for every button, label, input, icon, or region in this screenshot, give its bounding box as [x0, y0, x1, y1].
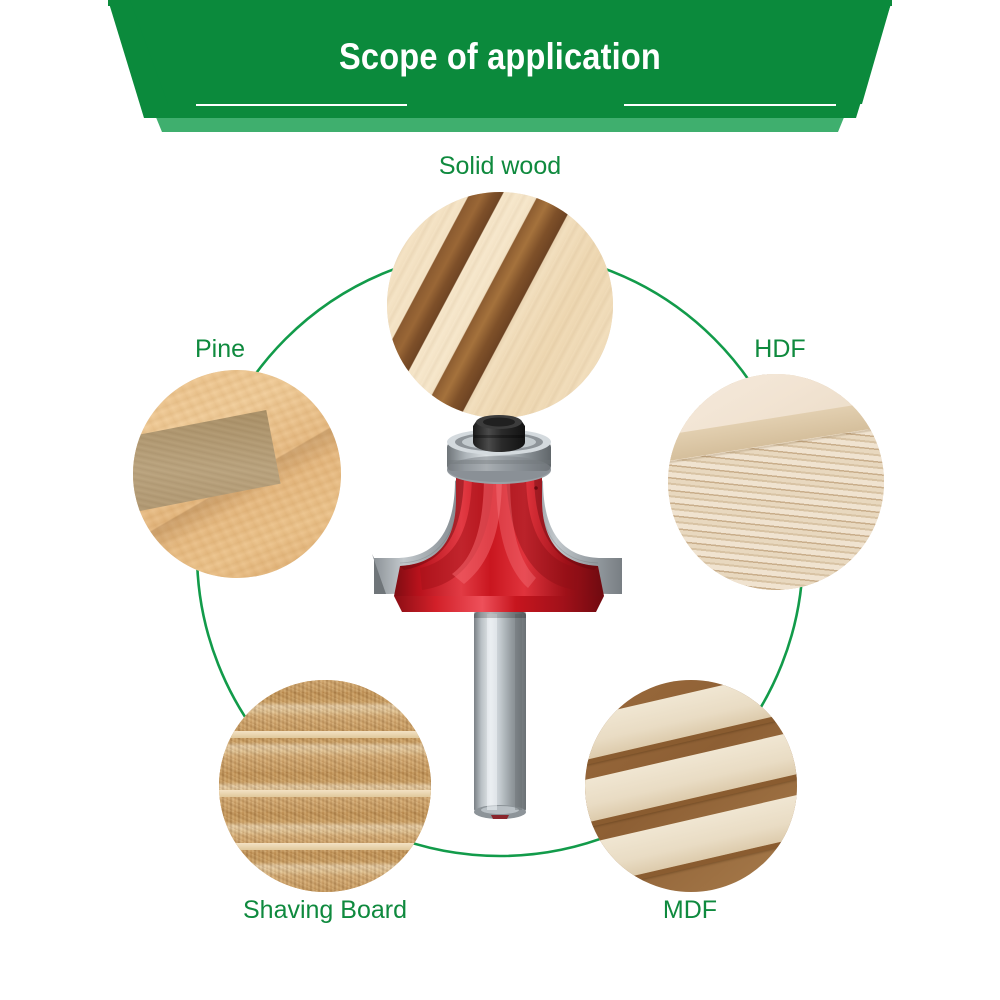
label-pine: Pine [140, 335, 300, 364]
texture-pine [133, 370, 341, 578]
texture-hdf [668, 374, 884, 590]
router-bit-illustration [360, 408, 640, 828]
bolt-socket [483, 418, 515, 427]
photo-solid-wood[interactable] [387, 192, 613, 418]
label-hdf: HDF [700, 335, 860, 364]
label-mdf: MDF [605, 896, 775, 925]
pine-end-grain [133, 410, 280, 517]
infographic-page: Scope of application Solid wood HDF [0, 0, 1000, 1000]
photo-hdf[interactable] [668, 374, 884, 590]
label-solid-wood: Solid wood [370, 152, 630, 181]
bearing-screw-mark [534, 486, 538, 490]
shank-highlight [487, 614, 497, 810]
bit-collar [394, 596, 604, 612]
shank-end-mark [491, 815, 509, 819]
texture-solid-wood [387, 192, 613, 418]
photo-pine[interactable] [133, 370, 341, 578]
chip-band-3 [219, 843, 431, 850]
label-shaving-board: Shaving Board [195, 896, 455, 925]
